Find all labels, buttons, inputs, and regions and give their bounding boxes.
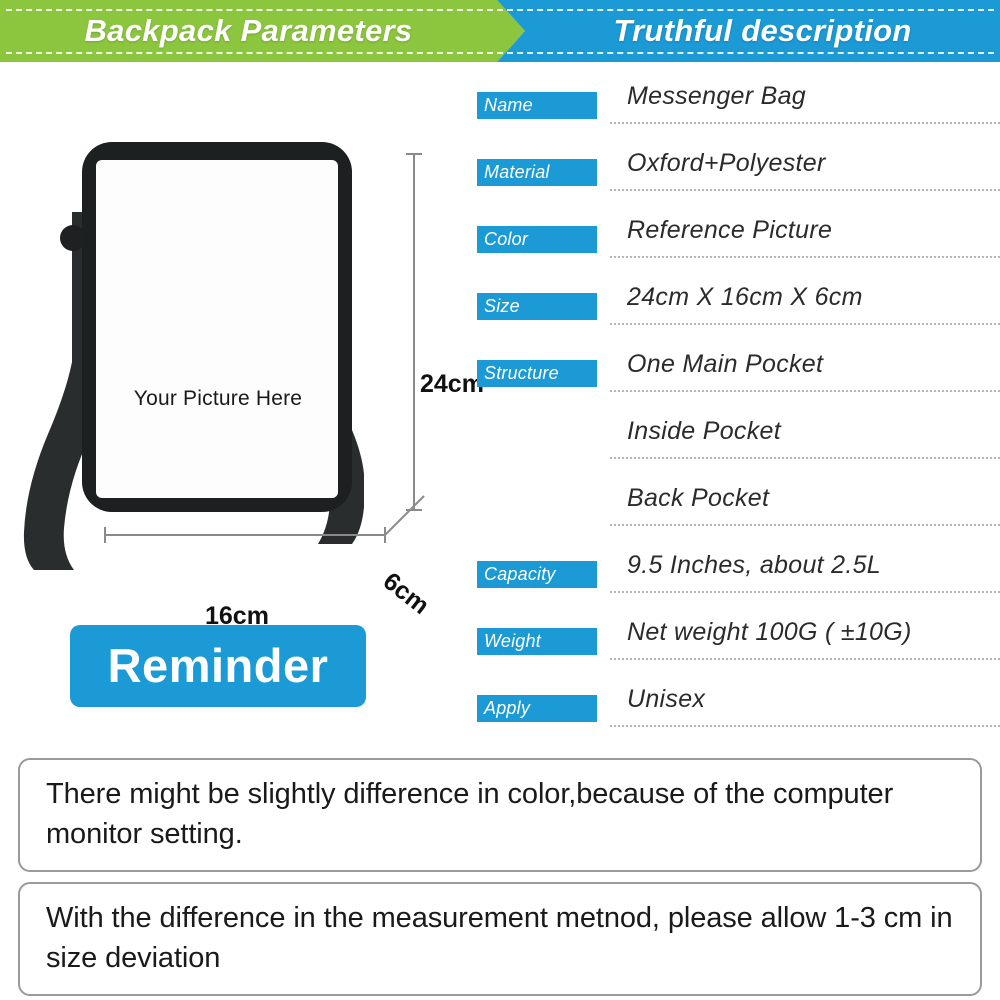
table-row: Size 24cm X 16cm X 6cm (472, 279, 1000, 346)
messenger-bag-drawing (0, 62, 470, 642)
table-row: Capacity 9.5 Inches, about 2.5L (472, 547, 1000, 614)
spec-value-apply: Unisex (627, 685, 1000, 714)
spec-label-capacity: Capacity (477, 561, 597, 588)
spec-dotted-rule (610, 122, 1000, 124)
spec-dotted-rule (610, 189, 1000, 191)
product-illustration: Your Picture Here 24cm 16cm 6cm (0, 62, 470, 642)
spec-value-structure-3: Back Pocket (627, 484, 1000, 513)
spec-dotted-rule (610, 390, 1000, 392)
spec-value-name: Messenger Bag (627, 82, 1000, 111)
spec-value-material: Oxford+Polyester (627, 149, 1000, 178)
spec-dotted-rule (610, 323, 1000, 325)
dimension-line-depth (385, 496, 424, 535)
spec-value-structure-1: One Main Pocket (627, 350, 1000, 379)
spec-value-color: Reference Picture (627, 216, 1000, 245)
table-row: Weight Net weight 100G ( ±10G) (472, 614, 1000, 681)
spec-label-size: Size (477, 293, 597, 320)
banner-dashed-line-top (6, 9, 994, 11)
table-row: Back Pocket (472, 480, 1000, 547)
spec-label-apply: Apply (477, 695, 597, 722)
spec-dotted-rule (610, 256, 1000, 258)
note-color-disclaimer: There might be slightly difference in co… (18, 758, 982, 872)
spec-label-name: Name (477, 92, 597, 119)
table-row: Apply Unisex (472, 681, 1000, 748)
spec-dotted-rule (610, 457, 1000, 459)
spec-label-material: Material (477, 159, 597, 186)
header-left-title: Backpack Parameters (0, 12, 497, 50)
header-banner: Backpack Parameters Truthful description (0, 0, 1000, 62)
spec-value-structure-2: Inside Pocket (627, 417, 1000, 446)
spec-dotted-rule (610, 591, 1000, 593)
table-row: Name Messenger Bag (472, 78, 1000, 145)
spec-dotted-rule (610, 658, 1000, 660)
reminder-badge: Reminder (70, 625, 366, 707)
note-measurement-disclaimer: With the difference in the measurement m… (18, 882, 982, 996)
spec-value-capacity: 9.5 Inches, about 2.5L (627, 551, 1000, 580)
table-row: Color Reference Picture (472, 212, 1000, 279)
spec-value-weight: Net weight 100G ( ±10G) (627, 618, 1000, 647)
spec-value-size: 24cm X 16cm X 6cm (627, 283, 1000, 312)
spec-dotted-rule (610, 524, 1000, 526)
table-row: Structure One Main Pocket (472, 346, 1000, 413)
spec-label-structure: Structure (477, 360, 597, 387)
header-right-title: Truthful description (525, 12, 1000, 50)
banner-dashed-line-bottom (6, 52, 994, 54)
table-row: Inside Pocket (472, 413, 1000, 480)
table-row: Material Oxford+Polyester (472, 145, 1000, 212)
spec-label-weight: Weight (477, 628, 597, 655)
specification-table: Name Messenger Bag Material Oxford+Polye… (472, 78, 1000, 748)
spec-dotted-rule (610, 725, 1000, 727)
print-area-caption: Your Picture Here (88, 387, 348, 411)
bag-print-panel (96, 160, 338, 498)
spec-label-color: Color (477, 226, 597, 253)
